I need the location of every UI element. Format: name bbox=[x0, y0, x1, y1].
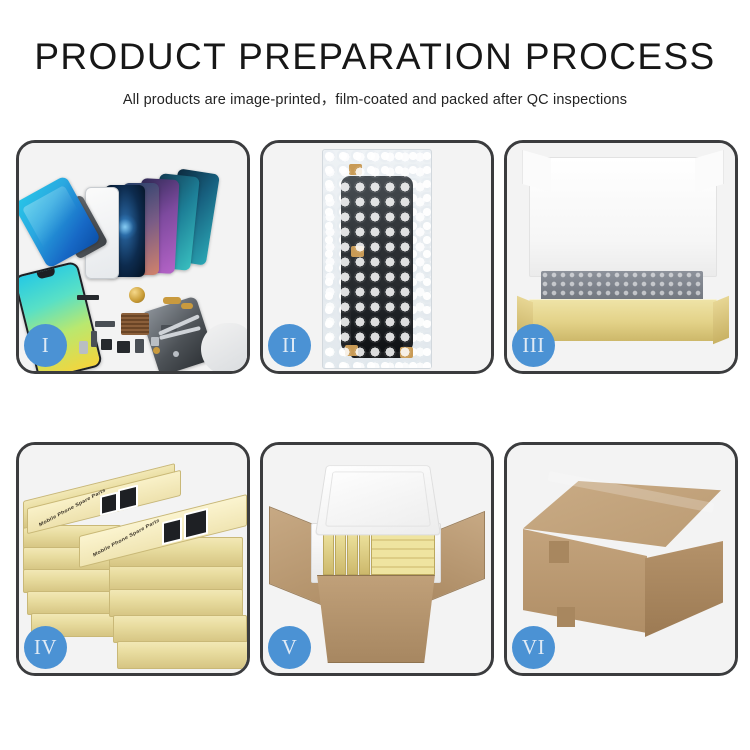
box-right-4 bbox=[117, 641, 247, 669]
product-preparation-infographic: PRODUCT PREPARATION PROCESS All products… bbox=[0, 0, 750, 750]
process-step-5: V bbox=[260, 442, 494, 676]
bubble-wrap-bag bbox=[322, 149, 432, 369]
carton-body bbox=[309, 575, 443, 663]
process-step-1: I bbox=[16, 140, 250, 374]
part-dark-1 bbox=[101, 339, 112, 350]
yellow-box-group-flat bbox=[371, 531, 435, 575]
step-badge-2: II bbox=[268, 324, 311, 367]
part-gold-2 bbox=[181, 303, 193, 309]
yellow-box-v-1 bbox=[323, 529, 334, 575]
yellow-box-v-3 bbox=[347, 529, 358, 575]
box-right-1 bbox=[109, 563, 243, 591]
carton-tab-upper bbox=[549, 541, 569, 563]
flex-cable-tail bbox=[351, 310, 403, 358]
box-swatch-front-2 bbox=[184, 508, 208, 540]
carton-tab-lower bbox=[557, 607, 575, 627]
page-subtitle: All products are image-printed，film-coat… bbox=[0, 88, 750, 109]
part-strip-2 bbox=[95, 321, 115, 327]
step-badge-4: IV bbox=[24, 626, 67, 669]
carton-front-face bbox=[523, 529, 647, 633]
box-swatch-front-1 bbox=[162, 517, 182, 545]
box-right-2 bbox=[109, 589, 243, 617]
yellow-box-v-4 bbox=[359, 529, 370, 575]
tape-piece-bottom-left bbox=[345, 345, 358, 356]
step-badge-6: VI bbox=[512, 626, 555, 669]
page-title: PRODUCT PREPARATION PROCESS bbox=[0, 38, 750, 77]
carton-side-face bbox=[645, 541, 723, 637]
process-step-2: II bbox=[260, 140, 494, 374]
process-step-4: Mobile Phone Spare Parts Mobile Phone Sp… bbox=[16, 442, 250, 676]
box-left-3 bbox=[23, 569, 121, 593]
spare-parts-group bbox=[77, 285, 207, 371]
step-badge-3: III bbox=[512, 324, 555, 367]
process-step-6: VI bbox=[504, 442, 738, 676]
part-silver-1 bbox=[79, 341, 88, 354]
part-gold-1 bbox=[163, 297, 181, 304]
yellow-box-tray bbox=[529, 299, 717, 341]
box-right-3 bbox=[113, 615, 247, 643]
speaker-part bbox=[129, 287, 145, 303]
chip-board-part bbox=[121, 313, 149, 335]
tape-piece-bottom-right bbox=[400, 347, 413, 358]
yellow-box-v-2 bbox=[335, 529, 346, 575]
box-swatch-back-2 bbox=[118, 485, 138, 512]
tape-piece-top bbox=[349, 164, 362, 175]
part-strip-1 bbox=[77, 295, 99, 300]
part-dark-3 bbox=[135, 339, 144, 353]
step-badge-1: I bbox=[24, 324, 67, 367]
process-step-grid: I II I bbox=[16, 140, 738, 676]
styrofoam-lid bbox=[315, 465, 441, 535]
box-swatch-back-1 bbox=[100, 492, 118, 516]
tweezers-tool bbox=[157, 315, 203, 355]
tape-piece-middle bbox=[351, 246, 364, 257]
step-badge-5: V bbox=[268, 626, 311, 669]
part-dark-2 bbox=[117, 341, 130, 353]
header: PRODUCT PREPARATION PROCESS All products… bbox=[0, 38, 750, 109]
part-strip-3 bbox=[91, 331, 97, 347]
technician-hand bbox=[201, 323, 247, 371]
process-step-3: III bbox=[504, 140, 738, 374]
white-foam-lid bbox=[529, 157, 717, 277]
